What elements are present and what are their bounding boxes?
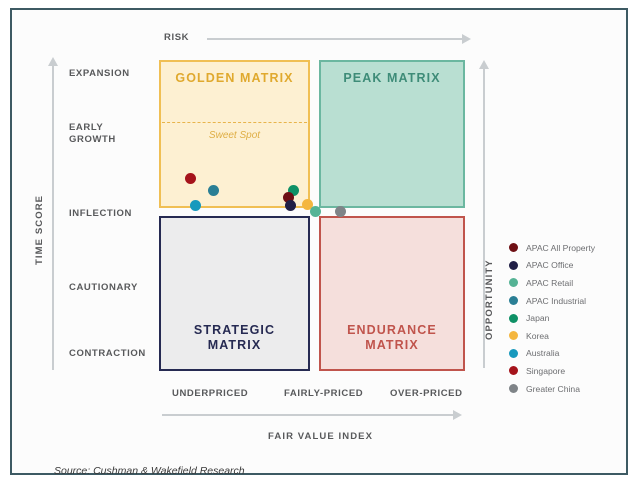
legend-item[interactable]: Australia xyxy=(509,345,629,363)
y-tick-contraction: CONTRACTION xyxy=(69,348,146,360)
legend-item[interactable]: APAC Retail xyxy=(509,274,629,292)
chart-page: RISK TIME SCORE EXPANSION EARLY GROWTH I… xyxy=(0,0,640,484)
legend-dot-icon xyxy=(509,366,518,375)
legend-dot-icon xyxy=(509,243,518,252)
scatter-point[interactable] xyxy=(285,200,296,211)
scatter-point[interactable] xyxy=(185,173,196,184)
y-tick-early-growth: EARLY GROWTH xyxy=(69,122,116,146)
quadrant-strategic-matrix[interactable]: STRATEGICMATRIX xyxy=(159,216,310,371)
scatter-point[interactable] xyxy=(208,185,219,196)
y-tick-inflection: INFLECTION xyxy=(69,208,132,220)
y-tick-cautionary: CAUTIONARY xyxy=(69,282,138,294)
legend-item[interactable]: Singapore xyxy=(509,362,629,380)
legend-item[interactable]: APAC Industrial xyxy=(509,292,629,310)
x-tick-fairly-priced: FAIRLY-PRICED xyxy=(284,388,363,399)
legend-dot-icon xyxy=(509,296,518,305)
source-note: Source: Cushman & Wakefield Research xyxy=(54,465,245,477)
quadrant-endurance-matrix-label: ENDURANCEMATRIX xyxy=(321,323,463,353)
risk-axis-label: RISK xyxy=(164,32,189,43)
sweet-spot-label: Sweet Spot xyxy=(162,130,307,141)
x-tick-over-priced: OVER-PRICED xyxy=(390,388,463,399)
legend-item-label: Japan xyxy=(526,313,549,323)
risk-axis-line xyxy=(207,38,462,40)
legend-item-label: Greater China xyxy=(526,384,580,394)
legend-item-label: APAC Retail xyxy=(526,278,573,288)
quadrant-peak-matrix-label: PEAK MATRIX xyxy=(321,71,463,86)
quadrant-endurance-matrix[interactable]: ENDURANCEMATRIX xyxy=(319,216,465,371)
legend-item[interactable]: APAC All Property xyxy=(509,239,629,257)
x-tick-underpriced: UNDERPRICED xyxy=(172,388,248,399)
scatter-point[interactable] xyxy=(310,206,321,217)
fair-value-arrow-icon xyxy=(453,410,462,420)
legend-item[interactable]: APAC Office xyxy=(509,257,629,275)
legend-item-label: Korea xyxy=(526,331,549,341)
legend-dot-icon xyxy=(509,349,518,358)
y-tick-expansion: EXPANSION xyxy=(69,68,130,80)
opportunity-axis-title: OPPORTUNITY xyxy=(484,259,495,340)
legend-dot-icon xyxy=(509,261,518,270)
legend-item-label: Singapore xyxy=(526,366,565,376)
legend-item-label: APAC Industrial xyxy=(526,296,586,306)
legend-item-label: Australia xyxy=(526,348,559,358)
time-score-arrow-icon xyxy=(48,57,58,66)
fair-value-axis-title: FAIR VALUE INDEX xyxy=(268,431,373,442)
legend-dot-icon xyxy=(509,314,518,323)
chart-frame: RISK TIME SCORE EXPANSION EARLY GROWTH I… xyxy=(10,8,628,475)
scatter-point[interactable] xyxy=(335,206,346,217)
sweet-spot-divider xyxy=(162,122,307,123)
quadrant-golden-matrix-label: GOLDEN MATRIX xyxy=(161,71,308,86)
legend-item-label: APAC Office xyxy=(526,260,573,270)
quadrant-strategic-matrix-label: STRATEGICMATRIX xyxy=(161,323,308,353)
legend-dot-icon xyxy=(509,278,518,287)
time-score-axis-title: TIME SCORE xyxy=(34,195,45,265)
legend-item[interactable]: Greater China xyxy=(509,380,629,398)
legend-dot-icon xyxy=(509,384,518,393)
legend-item[interactable]: Japan xyxy=(509,309,629,327)
scatter-point[interactable] xyxy=(190,200,201,211)
legend-dot-icon xyxy=(509,331,518,340)
quadrant-peak-matrix[interactable]: PEAK MATRIX xyxy=(319,60,465,208)
legend-item-label: APAC All Property xyxy=(526,243,595,253)
legend-item[interactable]: Korea xyxy=(509,327,629,345)
risk-arrow-icon xyxy=(462,34,471,44)
opportunity-arrow-icon xyxy=(479,60,489,69)
fair-value-axis-line xyxy=(162,414,454,416)
time-score-axis-line xyxy=(52,65,54,370)
legend: APAC All PropertyAPAC OfficeAPAC RetailA… xyxy=(509,239,629,397)
